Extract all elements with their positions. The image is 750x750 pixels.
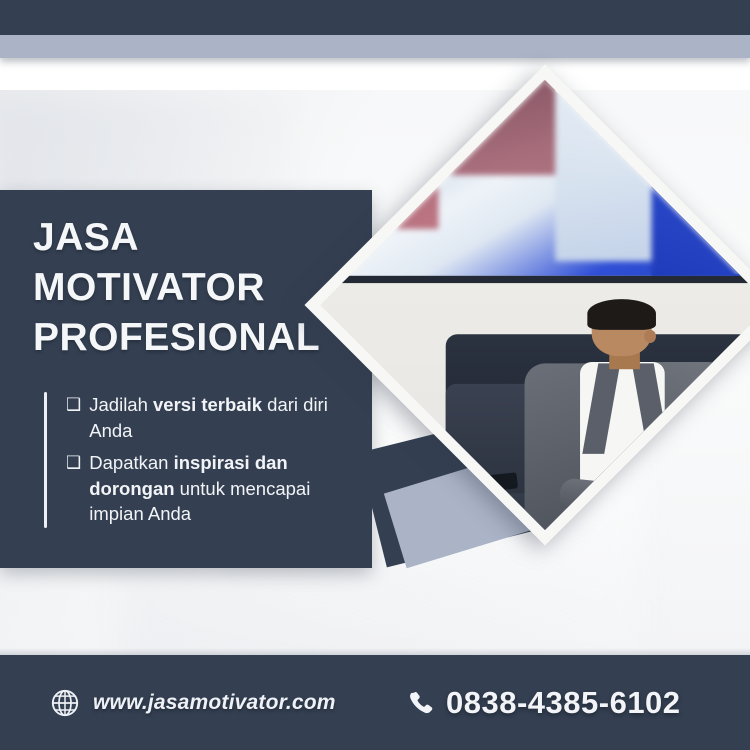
- person-hair: [587, 300, 656, 329]
- headline-line-2: MOTIVATOR: [33, 263, 320, 313]
- top-light-band: [0, 35, 750, 58]
- phone-icon: [408, 689, 435, 716]
- list-item: ❑ Dapatkan inspirasi dan dorongan untuk …: [66, 450, 366, 527]
- globe-icon: [50, 688, 80, 718]
- page-title: JASA MOTIVATOR PROFESIONAL: [33, 213, 320, 363]
- checkbox-square-icon: ❑: [66, 392, 81, 443]
- phone-number-text: 0838-4385-6102: [446, 685, 681, 721]
- website-group[interactable]: www.jasamotivator.com: [50, 688, 336, 718]
- top-white-gap: [0, 58, 750, 90]
- accent-rule: [44, 392, 47, 528]
- person-ear: [644, 329, 656, 342]
- phone-group[interactable]: 0838-4385-6102: [408, 685, 681, 721]
- list-item-text: Jadilah versi terbaik dari diri Anda: [89, 392, 366, 443]
- bullet-text-before: Dapatkan: [89, 452, 173, 473]
- benefits-list: ❑ Jadilah versi terbaik dari diri Anda ❑…: [66, 392, 366, 534]
- bullet-text-bold: versi terbaik: [153, 394, 262, 415]
- headline-line-1: JASA: [33, 213, 320, 263]
- checkbox-square-icon: ❑: [66, 450, 81, 527]
- bullet-text-before: Jadilah: [89, 394, 153, 415]
- contact-footer: www.jasamotivator.com 0838-4385-6102: [0, 655, 750, 750]
- poster-canvas: JASA MOTIVATOR PROFESIONAL ❑ Jadilah ver…: [0, 0, 750, 750]
- list-item-text: Dapatkan inspirasi dan dorongan untuk me…: [89, 450, 366, 527]
- list-item: ❑ Jadilah versi terbaik dari diri Anda: [66, 392, 366, 443]
- website-text: www.jasamotivator.com: [93, 691, 336, 715]
- top-dark-band: [0, 0, 750, 35]
- headline-line-3: PROFESIONAL: [33, 313, 320, 363]
